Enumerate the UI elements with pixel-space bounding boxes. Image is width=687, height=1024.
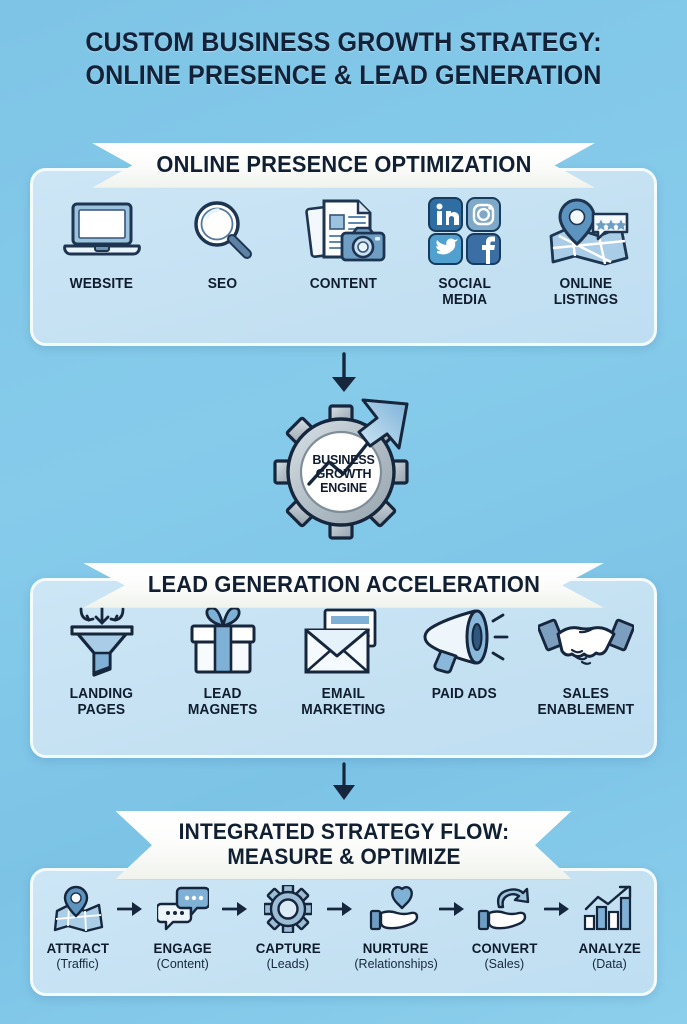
section-banner-strategy-flow: INTEGRATED STRATEGY FLOW: MEASURE & OPTI… bbox=[115, 811, 571, 879]
flow-step-convert[interactable]: CONVERT (Sales) bbox=[466, 883, 543, 971]
bar-chart-icon bbox=[582, 883, 636, 935]
facebook-icon bbox=[467, 234, 500, 264]
flow-step-convert-label: CONVERT bbox=[471, 940, 537, 956]
page-title-line1: CUSTOM BUSINESS GROWTH STRATEGY: bbox=[85, 27, 601, 57]
arrow-right-icon bbox=[439, 901, 465, 917]
megaphone-icon bbox=[421, 605, 509, 677]
page-title: CUSTOM BUSINESS GROWTH STRATEGY: ONLINE … bbox=[24, 0, 663, 92]
item-email-marketing-label-line2: MARKETING bbox=[301, 702, 385, 718]
item-online-listings-label: ONLINE LISTINGS bbox=[553, 276, 617, 308]
item-sales-enablement-label-line1: SALES bbox=[537, 686, 634, 702]
linkedin-icon bbox=[429, 198, 462, 231]
item-content[interactable]: CONTENT bbox=[283, 195, 404, 292]
item-social-media-label-line2: MEDIA bbox=[438, 292, 491, 308]
strategy-flow-row: ATTRACT (Traffic) ENGAGE (Content) bbox=[33, 871, 654, 993]
social-tiles-icon bbox=[426, 195, 504, 267]
panel-online-presence: WEBSITE SEO bbox=[30, 168, 657, 346]
flow-step-capture-label: CAPTURE bbox=[255, 940, 320, 956]
flow-step-attract-sub: (Traffic) bbox=[56, 957, 98, 971]
arrow-down-icon bbox=[329, 762, 359, 802]
business-growth-engine: BUSINESS GROWTH ENGINE bbox=[267, 392, 421, 549]
arrow-right-icon bbox=[544, 901, 570, 917]
envelope-icon bbox=[301, 605, 387, 677]
panel-strategy-flow: ATTRACT (Traffic) ENGAGE (Content) bbox=[30, 868, 657, 996]
item-paid-ads[interactable]: PAID ADS bbox=[404, 605, 525, 702]
item-lead-magnets-label-line1: LEAD bbox=[188, 686, 258, 702]
flow-step-attract[interactable]: ATTRACT (Traffic) bbox=[39, 883, 116, 971]
flow-step-nurture[interactable]: NURTURE (Relationships) bbox=[354, 883, 437, 971]
item-landing-pages-label-line1: LANDING bbox=[70, 686, 133, 702]
online-presence-icon-row: WEBSITE SEO bbox=[33, 171, 654, 343]
item-online-listings[interactable]: ONLINE LISTINGS bbox=[525, 195, 646, 308]
flow-arrow-3 bbox=[326, 883, 354, 935]
chat-bubbles-icon bbox=[157, 883, 209, 935]
flow-step-engage-label: ENGAGE bbox=[154, 940, 212, 956]
flow-step-nurture-sub: (Relationships) bbox=[354, 957, 437, 971]
flow-step-attract-label: ATTRACT bbox=[46, 940, 108, 956]
arrow-right-icon bbox=[117, 901, 143, 917]
item-landing-pages-label: LANDING PAGES bbox=[70, 686, 133, 718]
flow-step-analyze[interactable]: ANALYZE (Data) bbox=[571, 883, 648, 971]
item-paid-ads-label: PAID ADS bbox=[432, 686, 497, 702]
gear-icon bbox=[264, 883, 312, 935]
flow-step-analyze-sub: (Data) bbox=[592, 957, 627, 971]
section-banner-online-presence: ONLINE PRESENCE OPTIMIZATION bbox=[92, 143, 595, 188]
item-email-marketing[interactable]: EMAIL MARKETING bbox=[283, 605, 404, 718]
item-lead-magnets-label-line2: MAGNETS bbox=[188, 702, 258, 718]
magnifier-icon bbox=[187, 195, 259, 267]
flow-step-capture[interactable]: CAPTURE (Leads) bbox=[249, 883, 326, 971]
flow-arrow-4 bbox=[438, 883, 466, 935]
gear-growth-arrow-icon bbox=[267, 392, 421, 544]
item-email-marketing-label-line1: EMAIL bbox=[301, 686, 385, 702]
handshake-icon bbox=[538, 605, 634, 677]
item-social-media[interactable]: SOCIAL MEDIA bbox=[404, 195, 525, 308]
item-social-media-label: SOCIAL MEDIA bbox=[438, 276, 491, 308]
item-website[interactable]: WEBSITE bbox=[41, 195, 162, 292]
item-online-listings-label-line2: LISTINGS bbox=[553, 292, 617, 308]
flow-step-convert-sub: (Sales) bbox=[485, 957, 525, 971]
section-banner-strategy-flow-line2: MEASURE & OPTIMIZE bbox=[178, 845, 509, 870]
section-banner-lead-generation: LEAD GENERATION ACCELERATION bbox=[83, 563, 604, 608]
item-landing-pages-label-line2: PAGES bbox=[70, 702, 133, 718]
flow-arrow-5 bbox=[543, 883, 571, 935]
funnel-icon bbox=[63, 605, 141, 677]
section-banner-online-presence-text: ONLINE PRESENCE OPTIMIZATION bbox=[156, 152, 531, 178]
twitter-icon bbox=[429, 234, 462, 264]
item-email-marketing-label: EMAIL MARKETING bbox=[301, 686, 385, 718]
item-sales-enablement-label-line2: ENABLEMENT bbox=[537, 702, 634, 718]
flow-arrow-1 bbox=[116, 883, 144, 935]
documents-camera-icon bbox=[302, 195, 386, 267]
flow-arrow-2 bbox=[221, 883, 249, 935]
flow-step-capture-sub: (Leads) bbox=[267, 957, 309, 971]
item-seo[interactable]: SEO bbox=[162, 195, 283, 292]
item-sales-enablement-label: SALES ENABLEMENT bbox=[537, 686, 634, 718]
page-title-line2: ONLINE PRESENCE & LEAD GENERATION bbox=[24, 59, 663, 92]
hand-arrow-icon bbox=[477, 883, 531, 935]
item-lead-magnets-label: LEAD MAGNETS bbox=[188, 686, 258, 718]
flow-step-analyze-label: ANALYZE bbox=[578, 940, 640, 956]
flow-step-nurture-label: NURTURE bbox=[363, 940, 429, 956]
arrow-right-icon bbox=[222, 901, 248, 917]
section-banner-strategy-flow-line1: INTEGRATED STRATEGY FLOW: bbox=[178, 820, 509, 845]
item-online-listings-label-line1: ONLINE bbox=[553, 276, 617, 292]
item-lead-magnets[interactable]: LEAD MAGNETS bbox=[162, 605, 283, 718]
item-social-media-label-line1: SOCIAL bbox=[438, 276, 491, 292]
item-sales-enablement[interactable]: SALES ENABLEMENT bbox=[525, 605, 646, 718]
item-landing-pages[interactable]: LANDING PAGES bbox=[41, 605, 162, 718]
instagram-icon bbox=[467, 198, 500, 231]
arrow-down-icon bbox=[327, 352, 361, 394]
item-seo-label: SEO bbox=[208, 276, 237, 292]
gift-box-icon bbox=[184, 605, 262, 677]
section-banner-lead-generation-text: LEAD GENERATION ACCELERATION bbox=[147, 572, 539, 598]
map-pin-icon bbox=[52, 883, 104, 935]
item-content-label: CONTENT bbox=[310, 276, 377, 292]
item-website-label: WEBSITE bbox=[70, 276, 133, 292]
arrow-right-icon bbox=[327, 901, 353, 917]
map-pin-review-icon bbox=[541, 195, 631, 267]
hand-heart-icon bbox=[369, 883, 423, 935]
flow-step-engage-sub: (Content) bbox=[157, 957, 209, 971]
flow-step-engage[interactable]: ENGAGE (Content) bbox=[144, 883, 221, 971]
connector-arrow-down-2 bbox=[329, 762, 359, 807]
laptop-icon bbox=[59, 195, 145, 267]
